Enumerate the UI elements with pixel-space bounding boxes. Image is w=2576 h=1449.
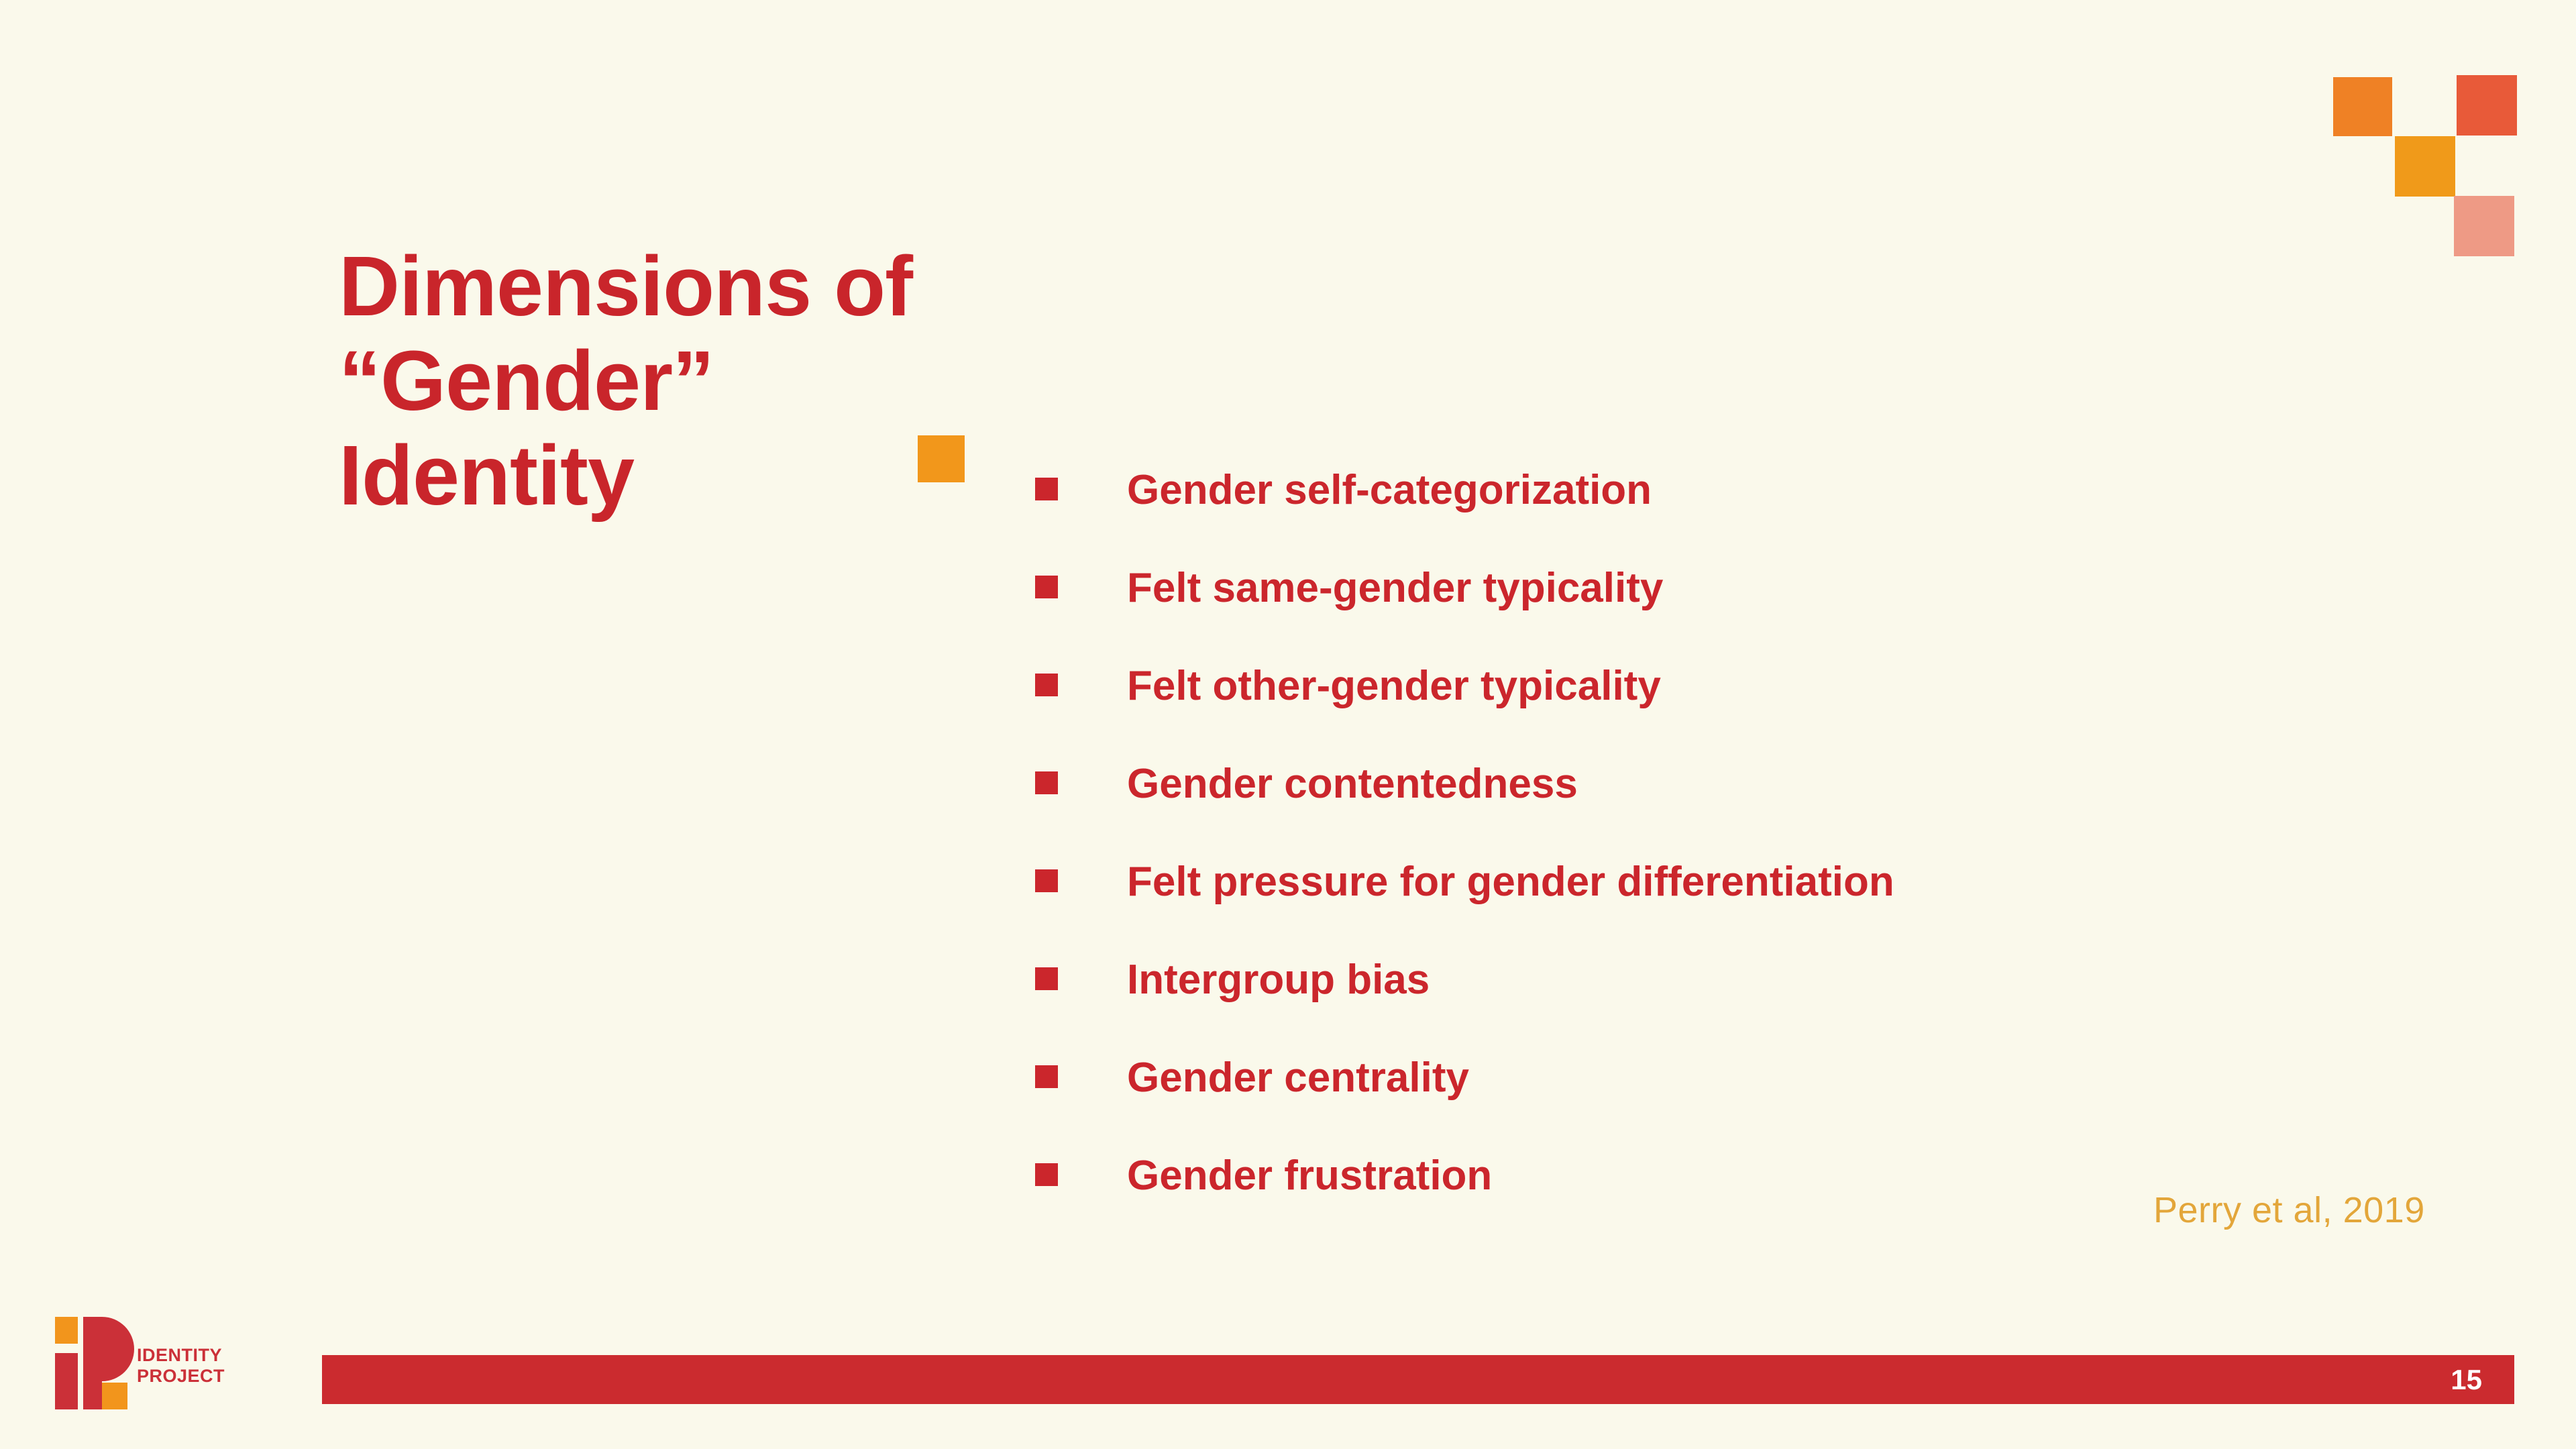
logo-i-stem-shape: [55, 1353, 78, 1409]
logo-wordmark-line-2: PROJECT: [137, 1366, 225, 1387]
square-bullet-icon: [1035, 478, 1058, 500]
decorative-square-amber: [2395, 136, 2455, 197]
square-bullet-icon: [1035, 576, 1058, 598]
logo-p-bowl-shape: [99, 1317, 134, 1381]
list-item-label: Felt pressure for gender differentiation: [1127, 853, 1894, 911]
list-item-label: Gender frustration: [1127, 1147, 1492, 1205]
list-item: Felt same-gender typicality: [1035, 568, 2444, 665]
logo-i-dot-shape: [55, 1317, 78, 1344]
decorative-square-red-orange: [2457, 75, 2517, 136]
logo-wordmark-line-1: IDENTITY: [137, 1345, 225, 1366]
list-item: Gender centrality: [1035, 1057, 2444, 1155]
decorative-square-orange: [2333, 77, 2392, 136]
list-item: Gender self-categorization: [1035, 470, 2444, 568]
slide-title-line-3: Identity: [339, 428, 1010, 523]
slide-title-line-1: Dimensions of: [339, 239, 1010, 333]
page-number: 15: [2451, 1366, 2482, 1394]
list-item-label: Gender contentedness: [1127, 755, 1578, 813]
citation-text: Perry et al, 2019: [2153, 1189, 2425, 1231]
list-item: Gender contentedness: [1035, 763, 2444, 861]
list-item: Felt pressure for gender differentiation: [1035, 861, 2444, 959]
decorative-square-salmon: [2454, 196, 2514, 256]
slide-title: Dimensions of “Gender” Identity: [339, 239, 1010, 523]
presentation-slide: Dimensions of “Gender” Identity Gender s…: [0, 0, 2576, 1449]
list-item-label: Felt same-gender typicality: [1127, 559, 1663, 617]
list-item-label: Intergroup bias: [1127, 951, 1430, 1009]
list-item: Intergroup bias: [1035, 959, 2444, 1057]
square-bullet-icon: [1035, 771, 1058, 794]
list-item: Felt other-gender typicality: [1035, 665, 2444, 763]
square-bullet-icon: [1035, 1065, 1058, 1088]
square-bullet-icon: [1035, 967, 1058, 990]
square-bullet-icon: [1035, 869, 1058, 892]
logo-wordmark: IDENTITY PROJECT: [137, 1345, 225, 1387]
identity-project-logo: IDENTITY PROJECT: [46, 1311, 247, 1412]
list-item-label: Felt other-gender typicality: [1127, 657, 1661, 715]
bullet-list: Gender self-categorization Felt same-gen…: [1035, 470, 2444, 1253]
slide-title-line-2: “Gender”: [339, 333, 1010, 428]
square-bullet-icon: [1035, 1163, 1058, 1186]
logo-p-square-shape: [102, 1383, 127, 1409]
list-item-label: Gender self-categorization: [1127, 462, 1652, 519]
square-bullet-icon: [1035, 674, 1058, 696]
accent-square-icon: [918, 435, 965, 482]
footer-bar: 15: [322, 1355, 2514, 1404]
ip-monogram-icon: [46, 1311, 133, 1412]
list-item-label: Gender centrality: [1127, 1049, 1469, 1107]
